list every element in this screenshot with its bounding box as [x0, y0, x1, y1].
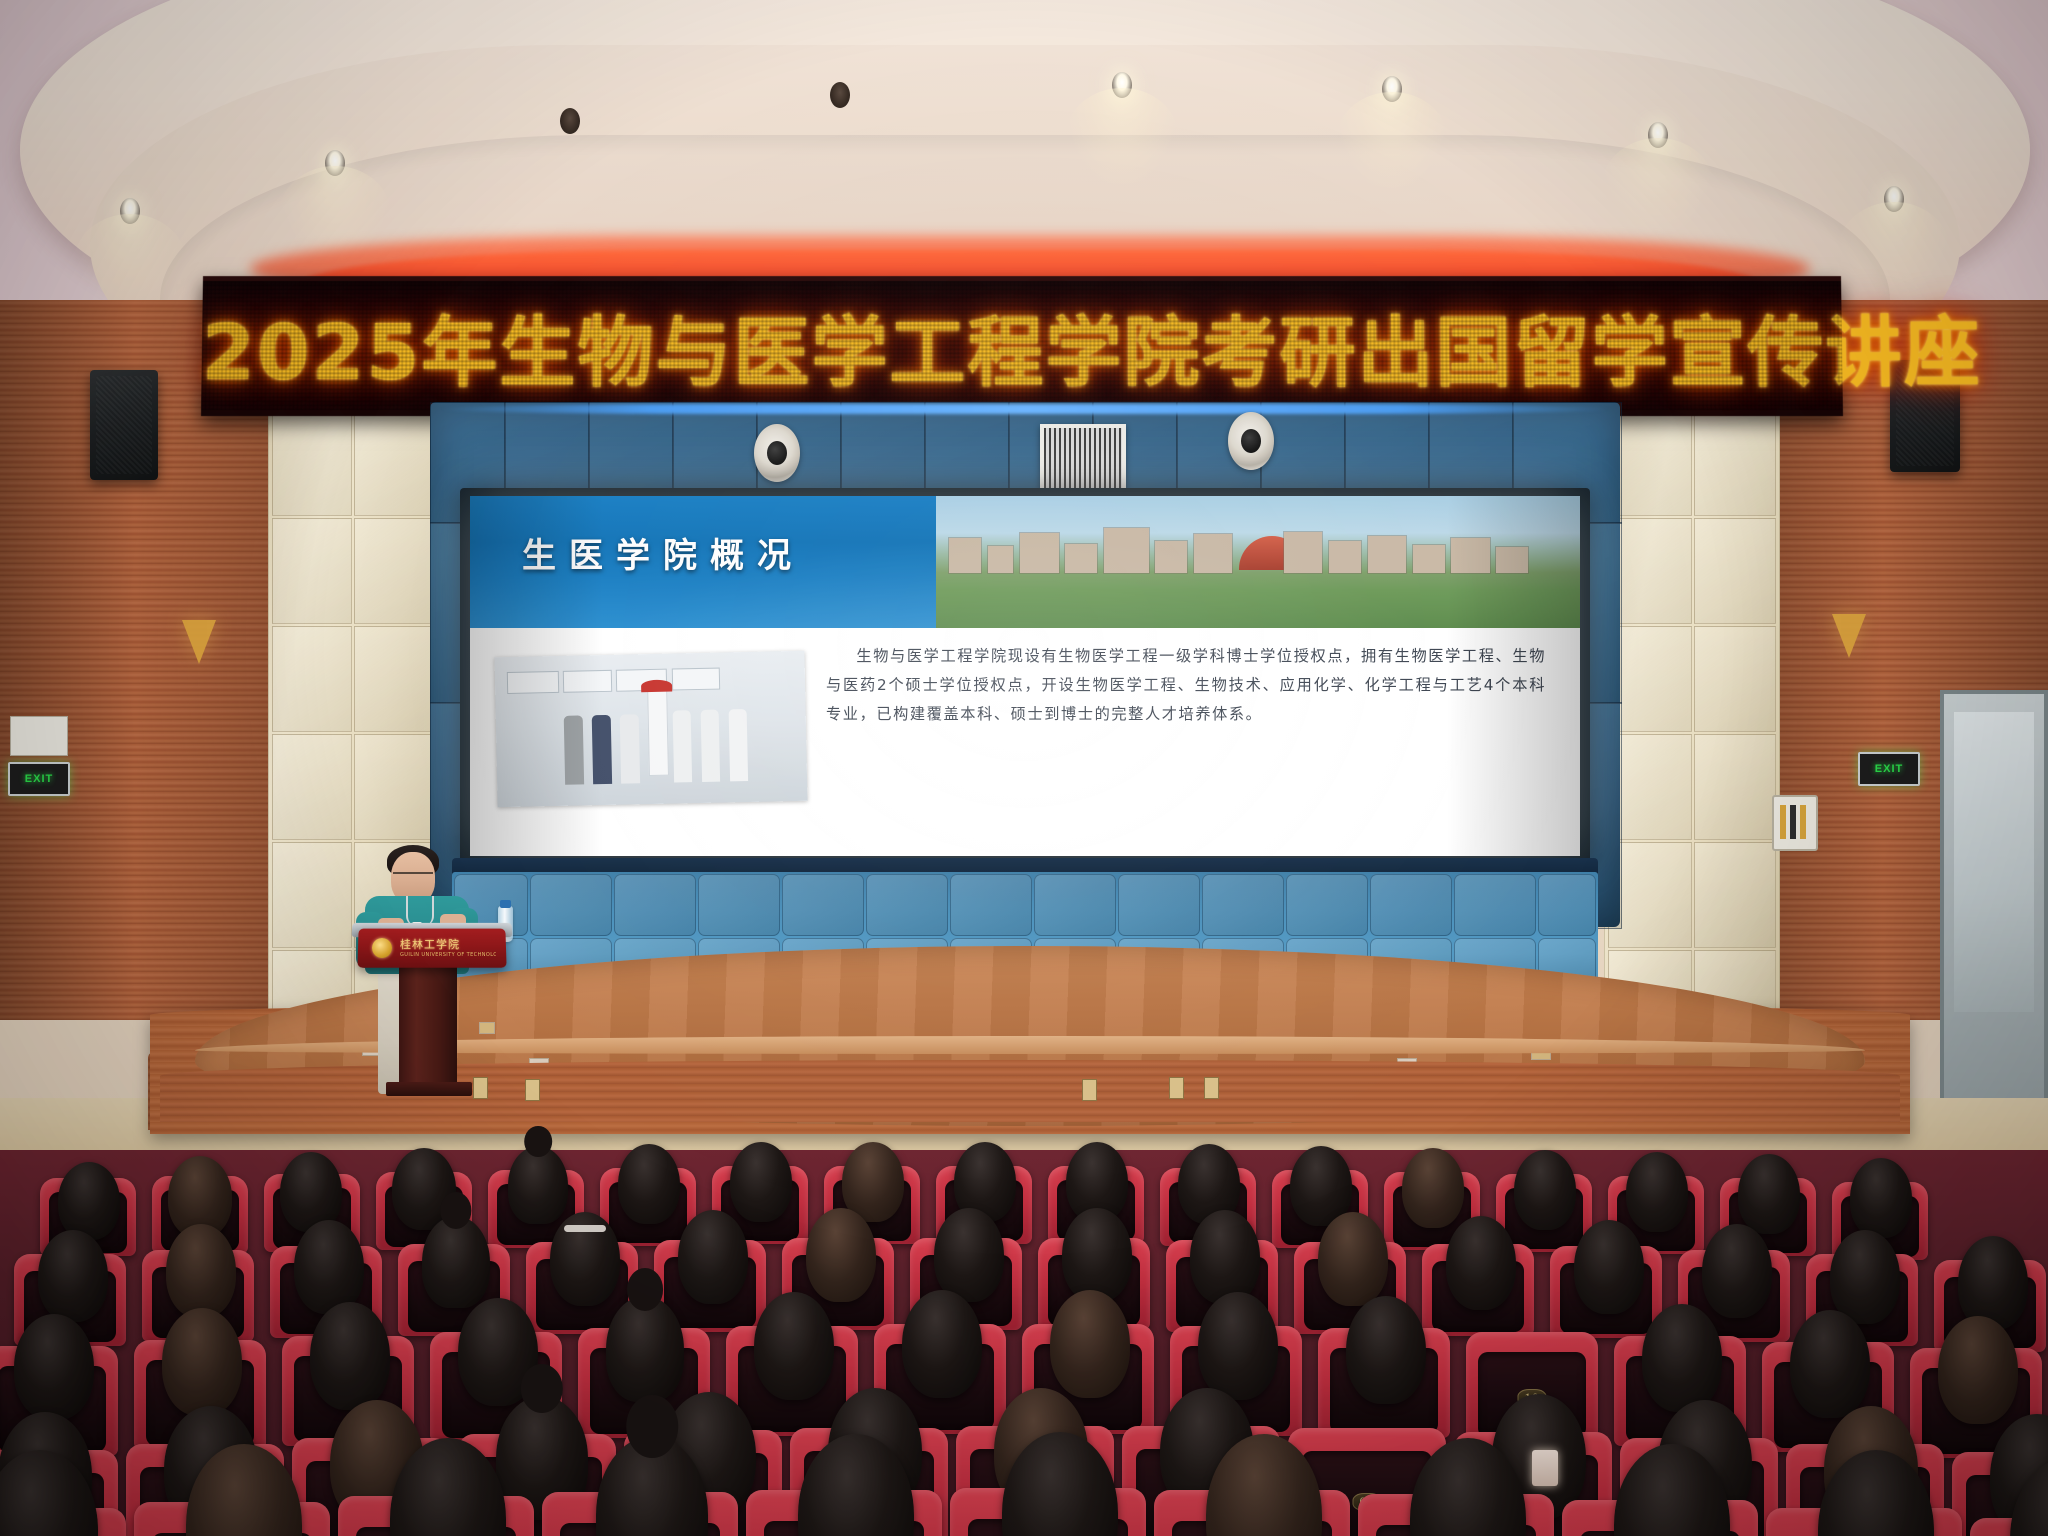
auditorium-scene: 2025年生物与医学工程学院考研出国留学宣传讲座: [0, 0, 2048, 1536]
stage-outlet-3: [1082, 1079, 1097, 1101]
control-switch-a[interactable]: [1780, 805, 1786, 839]
projection-screen: 生医学院概况 生物与医学工程学院现设有生物医学工程一级: [460, 488, 1590, 866]
ceiling-air-vent: [1040, 424, 1126, 498]
audience-head: [618, 1144, 680, 1224]
audience-head: [606, 1296, 684, 1402]
audience-head: [1050, 1290, 1130, 1398]
wall-notice-plate-left: [10, 716, 68, 756]
stage-outlet-5: [1204, 1077, 1219, 1099]
audience-head: [1626, 1152, 1688, 1232]
slide-group-photo: [494, 651, 807, 807]
audience-head: [1346, 1296, 1426, 1404]
speaker-eyeglasses: [393, 872, 433, 883]
presentation-slide: 生医学院概况 生物与医学工程学院现设有生物医学工程一级: [470, 496, 1580, 856]
downlight-glow-8: [1838, 202, 1950, 298]
exit-sign-left: EXIT: [8, 762, 70, 796]
blue-wall-edge-light: [440, 404, 1610, 414]
audience-area: 10 09: [0, 1150, 2048, 1536]
led-banner-frame: 2025年生物与医学工程学院考研出国留学宣传讲座: [201, 276, 1843, 416]
audience-head: [162, 1308, 242, 1416]
audience-head: [1514, 1150, 1576, 1230]
slide-title: 生医学院概况: [522, 528, 804, 577]
audience-head: [38, 1230, 108, 1322]
podium-column: [399, 958, 457, 1090]
audience-head: [14, 1314, 94, 1420]
audience-head: [730, 1142, 792, 1222]
audience-head: [1790, 1310, 1870, 1418]
audience-head: [422, 1216, 490, 1308]
stage-outlet-2: [525, 1079, 540, 1101]
exit-sign-right-label: EXIT: [1875, 763, 1903, 775]
audience-head: [1938, 1316, 2018, 1424]
stage-outlet-4: [1169, 1077, 1184, 1099]
university-emblem-icon: [372, 938, 392, 958]
wall-speaker-left: [90, 370, 158, 480]
downlight-glow-5: [1066, 88, 1178, 184]
slide-body: 生物与医学工程学院现设有生物医学工程一级学科博士学位授权点，拥有生物医学工程、生…: [470, 628, 1580, 856]
stage-control-panel[interactable]: [1772, 795, 1818, 851]
audience-head: [310, 1302, 390, 1410]
phone-screen-glow: [1532, 1450, 1558, 1486]
audience-head: [1958, 1236, 2028, 1330]
control-switch-b[interactable]: [1790, 805, 1796, 839]
audience-head: [1198, 1292, 1278, 1400]
audience-head: [678, 1210, 748, 1304]
stage-outlet-1: [473, 1077, 488, 1099]
audience-head: [754, 1292, 834, 1400]
acoustic-pilaster-right: [1604, 404, 1780, 1024]
audience-head: [166, 1224, 236, 1318]
downlight-glow-7: [1602, 138, 1714, 234]
audience-head: [58, 1162, 120, 1240]
audience-head: [508, 1146, 568, 1224]
audience-head: [1062, 1208, 1132, 1302]
campus-aerial-photo: [936, 496, 1580, 628]
audience-head: [1446, 1216, 1516, 1310]
wall-sconce-left: [182, 620, 216, 664]
wall-sconce-right: [1832, 614, 1866, 658]
water-bottle-cap: [500, 900, 511, 908]
podium-institution-name-en: GUILIN UNIVERSITY OF TECHNOLOGY: [400, 952, 496, 960]
audience-head: [806, 1208, 876, 1302]
downlight-glow-6: [1336, 92, 1448, 188]
audience-head: [934, 1208, 1004, 1302]
audience-head: [1738, 1154, 1800, 1234]
audience-head: [1702, 1224, 1772, 1318]
podium-base: [386, 1082, 472, 1096]
audience-head: [1850, 1158, 1912, 1238]
downlight-glow-1: [74, 214, 186, 310]
podium-institution-name: 桂林工学院: [400, 936, 496, 950]
audience-head: [1318, 1212, 1388, 1306]
led-banner: 2025年生物与医学工程学院考研出国留学宣传讲座: [202, 276, 1842, 416]
exit-door-glass: [1954, 712, 2034, 1012]
exit-sign-left-label: EXIT: [25, 773, 53, 785]
audience-head: [550, 1212, 620, 1306]
slide-body-text: 生物与医学工程学院现设有生物医学工程一级学科博士学位授权点，拥有生物医学工程、生…: [826, 642, 1546, 730]
audience-head: [1190, 1210, 1260, 1304]
audience-head: [1402, 1148, 1464, 1228]
audience-head: [902, 1290, 982, 1398]
led-banner-text: 2025年生物与医学工程学院考研出国留学宣传讲座: [201, 291, 1843, 401]
round-speaker-left: [754, 424, 800, 482]
control-switch-c[interactable]: [1800, 805, 1806, 839]
audience-head: [1830, 1230, 1900, 1324]
exit-sign-right: EXIT: [1858, 752, 1920, 786]
slide-header-banner: 生医学院概况: [470, 496, 1580, 628]
audience-head: [294, 1220, 364, 1314]
audience-head: [1574, 1220, 1644, 1314]
downlight-3-off: [560, 108, 580, 134]
audience-head: [1642, 1304, 1722, 1412]
downlight-4-off: [830, 82, 850, 108]
round-speaker-right: [1228, 412, 1274, 470]
